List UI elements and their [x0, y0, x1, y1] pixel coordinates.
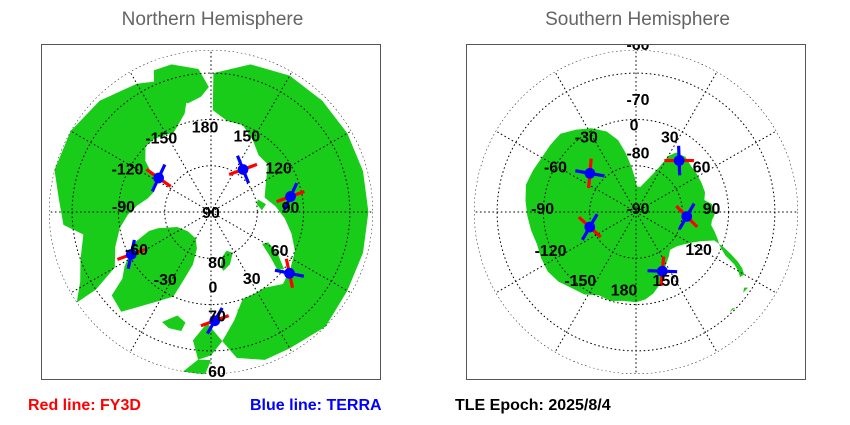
- grid-label-neg150: -150: [145, 131, 177, 148]
- south-polar-plot: -90-80-70-600306090120150180-150-120-90-…: [467, 45, 805, 379]
- crossing-point-marker: [584, 222, 595, 233]
- grid-label-150: 150: [653, 273, 680, 290]
- grid-label-120: 120: [265, 160, 292, 177]
- crossing-point-marker: [681, 211, 692, 222]
- grid-label-neg90: -90: [531, 201, 554, 218]
- grid-label-neg30: -30: [154, 272, 177, 289]
- grid-label-neg80: -80: [627, 146, 650, 163]
- grid-label-neg30: -30: [575, 130, 598, 147]
- page-title-north: Northern Hemisphere: [0, 8, 425, 32]
- grid-label-90: 90: [703, 201, 721, 218]
- grid-label-90: 90: [282, 200, 300, 217]
- grid-label-neg90: -90: [112, 199, 135, 216]
- grid-label-neg120: -120: [112, 161, 144, 178]
- grid-label-180: 180: [611, 283, 638, 300]
- grid-label-150: 150: [234, 129, 261, 146]
- grid-label-120: 120: [685, 242, 712, 259]
- grid-label-60: 60: [208, 364, 226, 379]
- grid-label-neg150: -150: [564, 273, 596, 290]
- crossing-point-marker: [153, 173, 164, 184]
- grid-label-70: 70: [208, 309, 226, 326]
- grid-label-neg120: -120: [535, 243, 567, 260]
- grid-label-90: 90: [202, 205, 220, 222]
- crossing-point-marker: [585, 168, 596, 179]
- grid-label-neg60: -60: [125, 242, 148, 259]
- grid-label-60: 60: [693, 159, 711, 176]
- southern-hemisphere-panel: Southern Hemisphere -90-80-70-6003060901…: [425, 0, 850, 425]
- grid-label-neg60: -60: [544, 159, 567, 176]
- grid-label-30: 30: [661, 130, 679, 147]
- grid-label-neg70: -70: [627, 92, 650, 109]
- grid-label-0: 0: [630, 118, 639, 135]
- northern-hemisphere-panel: Northern Hemisphere 90807060030609012015…: [0, 0, 425, 425]
- crossing-point-marker: [674, 155, 685, 166]
- grid-label-60: 60: [271, 243, 289, 260]
- tle-epoch-label: TLE Epoch: 2025/8/4: [455, 397, 611, 415]
- page-title-south: Southern Hemisphere: [425, 8, 850, 32]
- grid-label-180: 180: [192, 120, 219, 137]
- grid-label-80: 80: [208, 255, 226, 272]
- north-polar-plot: 908070600306090120150180-150-120-90-60-3…: [42, 45, 380, 379]
- north-plot-box: 908070600306090120150180-150-120-90-60-3…: [41, 44, 381, 380]
- grid-label-neg60: -60: [627, 45, 650, 54]
- grid-label-0: 0: [209, 280, 218, 297]
- grid-label-30: 30: [243, 271, 261, 288]
- legend-blue-line: Blue line: TERRA: [250, 397, 382, 415]
- crossing-point-marker: [284, 268, 295, 279]
- crossing-point-marker: [238, 164, 249, 175]
- grid-label-neg90: -90: [627, 201, 650, 218]
- south-plot-box: -90-80-70-600306090120150180-150-120-90-…: [466, 44, 806, 380]
- legend-red-line: Red line: FY3D: [28, 397, 141, 415]
